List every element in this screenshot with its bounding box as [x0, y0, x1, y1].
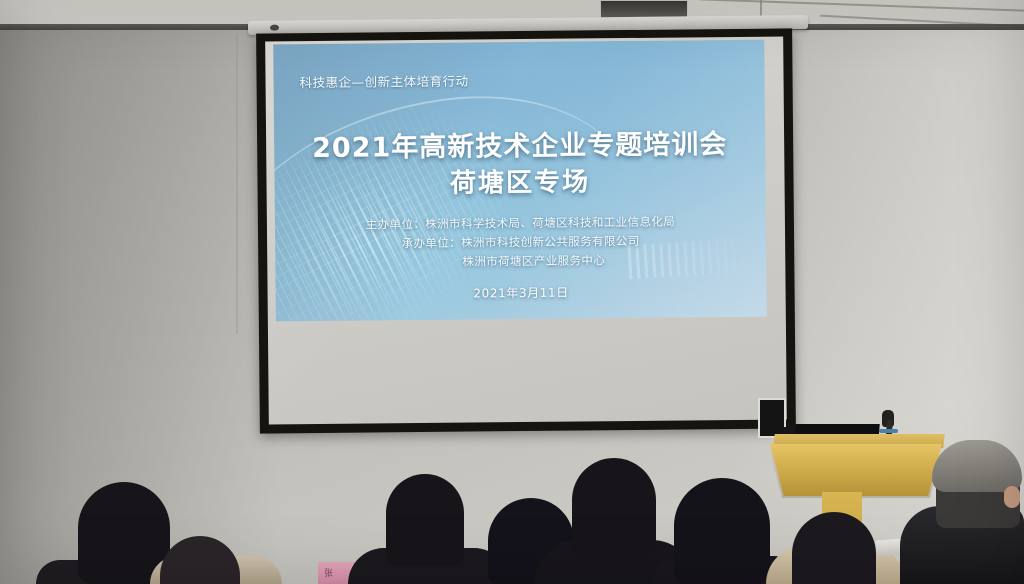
slide-content: 科技惠企—创新主体培育行动 2021年高新技术企业专题培训会 荷塘区专场 主办单…	[273, 40, 767, 322]
slide-organizers: 主办单位：株洲市科学技术局、荷塘区科技和工业信息化局 承办单位：株洲市科技创新公…	[275, 212, 767, 274]
slide-date: 2021年3月11日	[276, 282, 767, 304]
slide-subtitle: 荷塘区专场	[274, 160, 765, 202]
roller-knob	[270, 25, 279, 31]
wall-seam	[236, 34, 238, 334]
slide-tagline: 科技惠企—创新主体培育行动	[299, 71, 468, 92]
audience-ear	[1004, 486, 1020, 508]
audience-head	[386, 474, 464, 566]
projected-slide: · · · · · · 科技惠企—创新主体培育行动 2021年高新技术企业专题培…	[273, 40, 767, 322]
audience-head	[572, 458, 656, 554]
projection-screen: · · · · · · 科技惠企—创新主体培育行动 2021年高新技术企业专题培…	[256, 28, 796, 433]
organizer-line: 株洲市荷塘区产业服务中心	[275, 250, 766, 274]
conference-room-photo: · · · · · · 科技惠企—创新主体培育行动 2021年高新技术企业专题培…	[0, 0, 1024, 584]
screen-surface: · · · · · · 科技惠企—创新主体培育行动 2021年高新技术企业专题培…	[265, 37, 787, 425]
pink-name-card-label: 张	[324, 566, 334, 579]
slide-title: 2021年高新技术企业专题培训会	[274, 122, 765, 166]
podium	[770, 444, 942, 496]
audience-head	[674, 478, 770, 584]
microphone-collar	[879, 429, 898, 433]
